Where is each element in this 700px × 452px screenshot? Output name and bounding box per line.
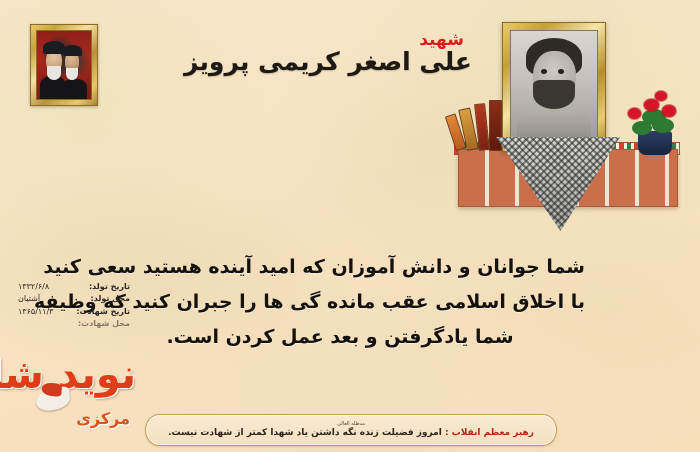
portrait-beard bbox=[533, 80, 574, 109]
martyr-portrait-frame bbox=[502, 22, 606, 152]
info-label: محل تولد: bbox=[91, 293, 131, 305]
leader-robe-right bbox=[62, 79, 87, 99]
info-row-birth-date: تاریخ تولد: ۱۳۳۲/۶/۸ bbox=[18, 281, 130, 293]
info-row-martyrdom-place: محل شهادت: bbox=[18, 318, 130, 330]
martyr-quote: شما جوانان و دانش آموزان که امید آینده ه… bbox=[95, 250, 585, 355]
logo-sub-text: مرکزی bbox=[76, 409, 130, 428]
title-martyr-name: علی اصغر کریمی پرویز bbox=[200, 46, 472, 78]
info-value: ۱۳۳۲/۶/۸ bbox=[18, 281, 49, 293]
info-label: تاریخ تولد: bbox=[89, 281, 130, 293]
martyr-info-table: تاریخ تولد: ۱۳۳۲/۶/۸ محل تولد: آشتیان تا… bbox=[18, 281, 130, 331]
flower-pot bbox=[622, 81, 688, 155]
leader-turban-right bbox=[63, 45, 81, 57]
flower-icon bbox=[628, 108, 641, 119]
flower-icon bbox=[662, 105, 676, 117]
leader-beard-left bbox=[47, 66, 61, 80]
info-row-martyrdom-date: تاریخ شهادت: ۱۳۶۵/۱۱/۳ bbox=[18, 306, 130, 318]
info-label: تاریخ شهادت: bbox=[76, 306, 130, 318]
info-value: آشتیان bbox=[18, 293, 40, 305]
books-stack bbox=[456, 99, 504, 151]
footer-quote-prefix: رهبر معظم انقلاب : bbox=[445, 428, 534, 438]
memorial-shelf-scene bbox=[444, 10, 694, 225]
footer-quote-text: رهبر معظم انقلاب : امروز فضیلت زنده نگه … bbox=[168, 428, 534, 438]
info-value: ۱۳۶۵/۱۱/۳ bbox=[18, 306, 53, 318]
info-row-birth-place: محل تولد: آشتیان bbox=[18, 293, 130, 305]
book-icon bbox=[489, 100, 502, 151]
navid-shahed-logo: نوید شاهد مرکزی bbox=[8, 352, 136, 430]
quote-line: شما یادگرفتن و بعد عمل کردن است. bbox=[95, 320, 585, 355]
quote-line: با اخلاق اسلامی عقب مانده گی ها را جبران… bbox=[95, 285, 585, 320]
leaders-portrait-image bbox=[36, 30, 92, 100]
leaders-portrait-frame bbox=[30, 24, 98, 106]
portrait-eye bbox=[541, 69, 547, 73]
leader-turban-left bbox=[43, 41, 65, 54]
footer-quote-banner: مدظله العالی رهبر معظم انقلاب : امروز فض… bbox=[145, 414, 557, 446]
leader-beard-right bbox=[66, 68, 78, 80]
portrait-eye bbox=[558, 69, 564, 73]
footer-quote-body: امروز فضیلت زنده نگه داشتن یاد شهدا کمتر… bbox=[168, 428, 442, 438]
info-label: محل شهادت: bbox=[78, 318, 130, 330]
martyr-memorial-poster: شهید علی اصغر کریمی پرویز bbox=[0, 0, 700, 452]
footer-honorific: مدظله العالی bbox=[337, 422, 365, 427]
flower-icon bbox=[644, 99, 659, 111]
martyr-portrait-image bbox=[510, 30, 598, 144]
poster-title: شهید علی اصغر کریمی پرویز bbox=[200, 34, 472, 78]
flower-icon bbox=[655, 91, 667, 101]
quote-line: شما جوانان و دانش آموزان که امید آینده ه… bbox=[95, 250, 585, 285]
